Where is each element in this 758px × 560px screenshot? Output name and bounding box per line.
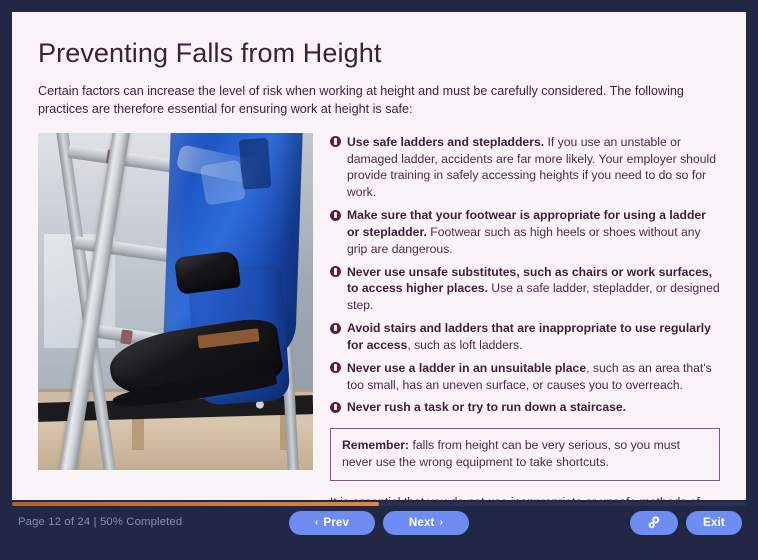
slide-card: Preventing Falls from Height Certain fac…: [12, 12, 746, 500]
safety-practices-list: Use safe ladders and stepladders. If you…: [330, 134, 720, 416]
list-item: Use safe ladders and stepladders. If you…: [330, 134, 720, 201]
list-item-lead: Use safe ladders and stepladders.: [347, 135, 544, 149]
list-item: Avoid stairs and ladders that are inappr…: [330, 320, 720, 354]
progress-bar-track: [12, 502, 746, 506]
progress-bar-fill: [12, 502, 379, 506]
info-circle-icon: [330, 402, 341, 413]
list-item-rest: , such as loft ladders.: [407, 338, 522, 352]
next-button[interactable]: Next ›: [383, 511, 469, 535]
page-title: Preventing Falls from Height: [38, 38, 720, 69]
info-circle-icon: [330, 362, 341, 373]
list-item-lead: Never rush a task or try to run down a s…: [347, 400, 626, 414]
info-circle-icon: [330, 136, 341, 147]
next-button-label: Next: [409, 517, 435, 529]
list-item-lead: Never use a ladder in an unsuitable plac…: [347, 361, 586, 375]
chevron-right-icon: ›: [440, 518, 444, 528]
slide-illustration: [38, 133, 313, 470]
list-item-lead: Avoid stairs and ladders that are inappr…: [347, 321, 711, 352]
list-item: Make sure that your footwear is appropri…: [330, 207, 720, 257]
page-status-text: Page 12 of 24 | 50% Completed: [18, 516, 182, 528]
footer-actions: Exit: [630, 511, 742, 535]
slide-navigation: ‹ Prev Next ›: [289, 511, 469, 535]
course-footer: Page 12 of 24 | 50% Completed ‹ Prev Nex…: [0, 500, 758, 560]
exit-button-label: Exit: [703, 517, 725, 529]
worker-boot-upper: [173, 250, 240, 294]
slide-text-column: Use safe ladders and stepladders. If you…: [330, 133, 720, 500]
remember-label: Remember:: [342, 438, 409, 452]
ladder-photo: [38, 133, 313, 470]
slide-intro-text: Certain factors can increase the level o…: [38, 83, 720, 119]
list-item: Never use a ladder in an unsuitable plac…: [330, 360, 720, 394]
cogs-icon: [646, 516, 663, 531]
info-circle-icon: [330, 210, 341, 221]
ladder-step-cap: [120, 329, 133, 344]
chevron-left-icon: ‹: [315, 518, 319, 528]
list-item: Never rush a task or try to run down a s…: [330, 399, 720, 416]
slide-body: Use safe ladders and stepladders. If you…: [38, 133, 720, 500]
remember-callout: Remember: falls from height can be very …: [330, 428, 720, 481]
settings-button[interactable]: [630, 511, 678, 535]
trouser-pocket: [239, 137, 271, 189]
exit-button[interactable]: Exit: [686, 511, 742, 535]
prev-button-label: Prev: [323, 517, 349, 529]
prev-button[interactable]: ‹ Prev: [289, 511, 375, 535]
info-circle-icon: [330, 266, 341, 277]
info-circle-icon: [330, 323, 341, 334]
list-item: Never use unsafe substitutes, such as ch…: [330, 264, 720, 314]
course-slide-viewer: Preventing Falls from Height Certain fac…: [0, 0, 758, 560]
